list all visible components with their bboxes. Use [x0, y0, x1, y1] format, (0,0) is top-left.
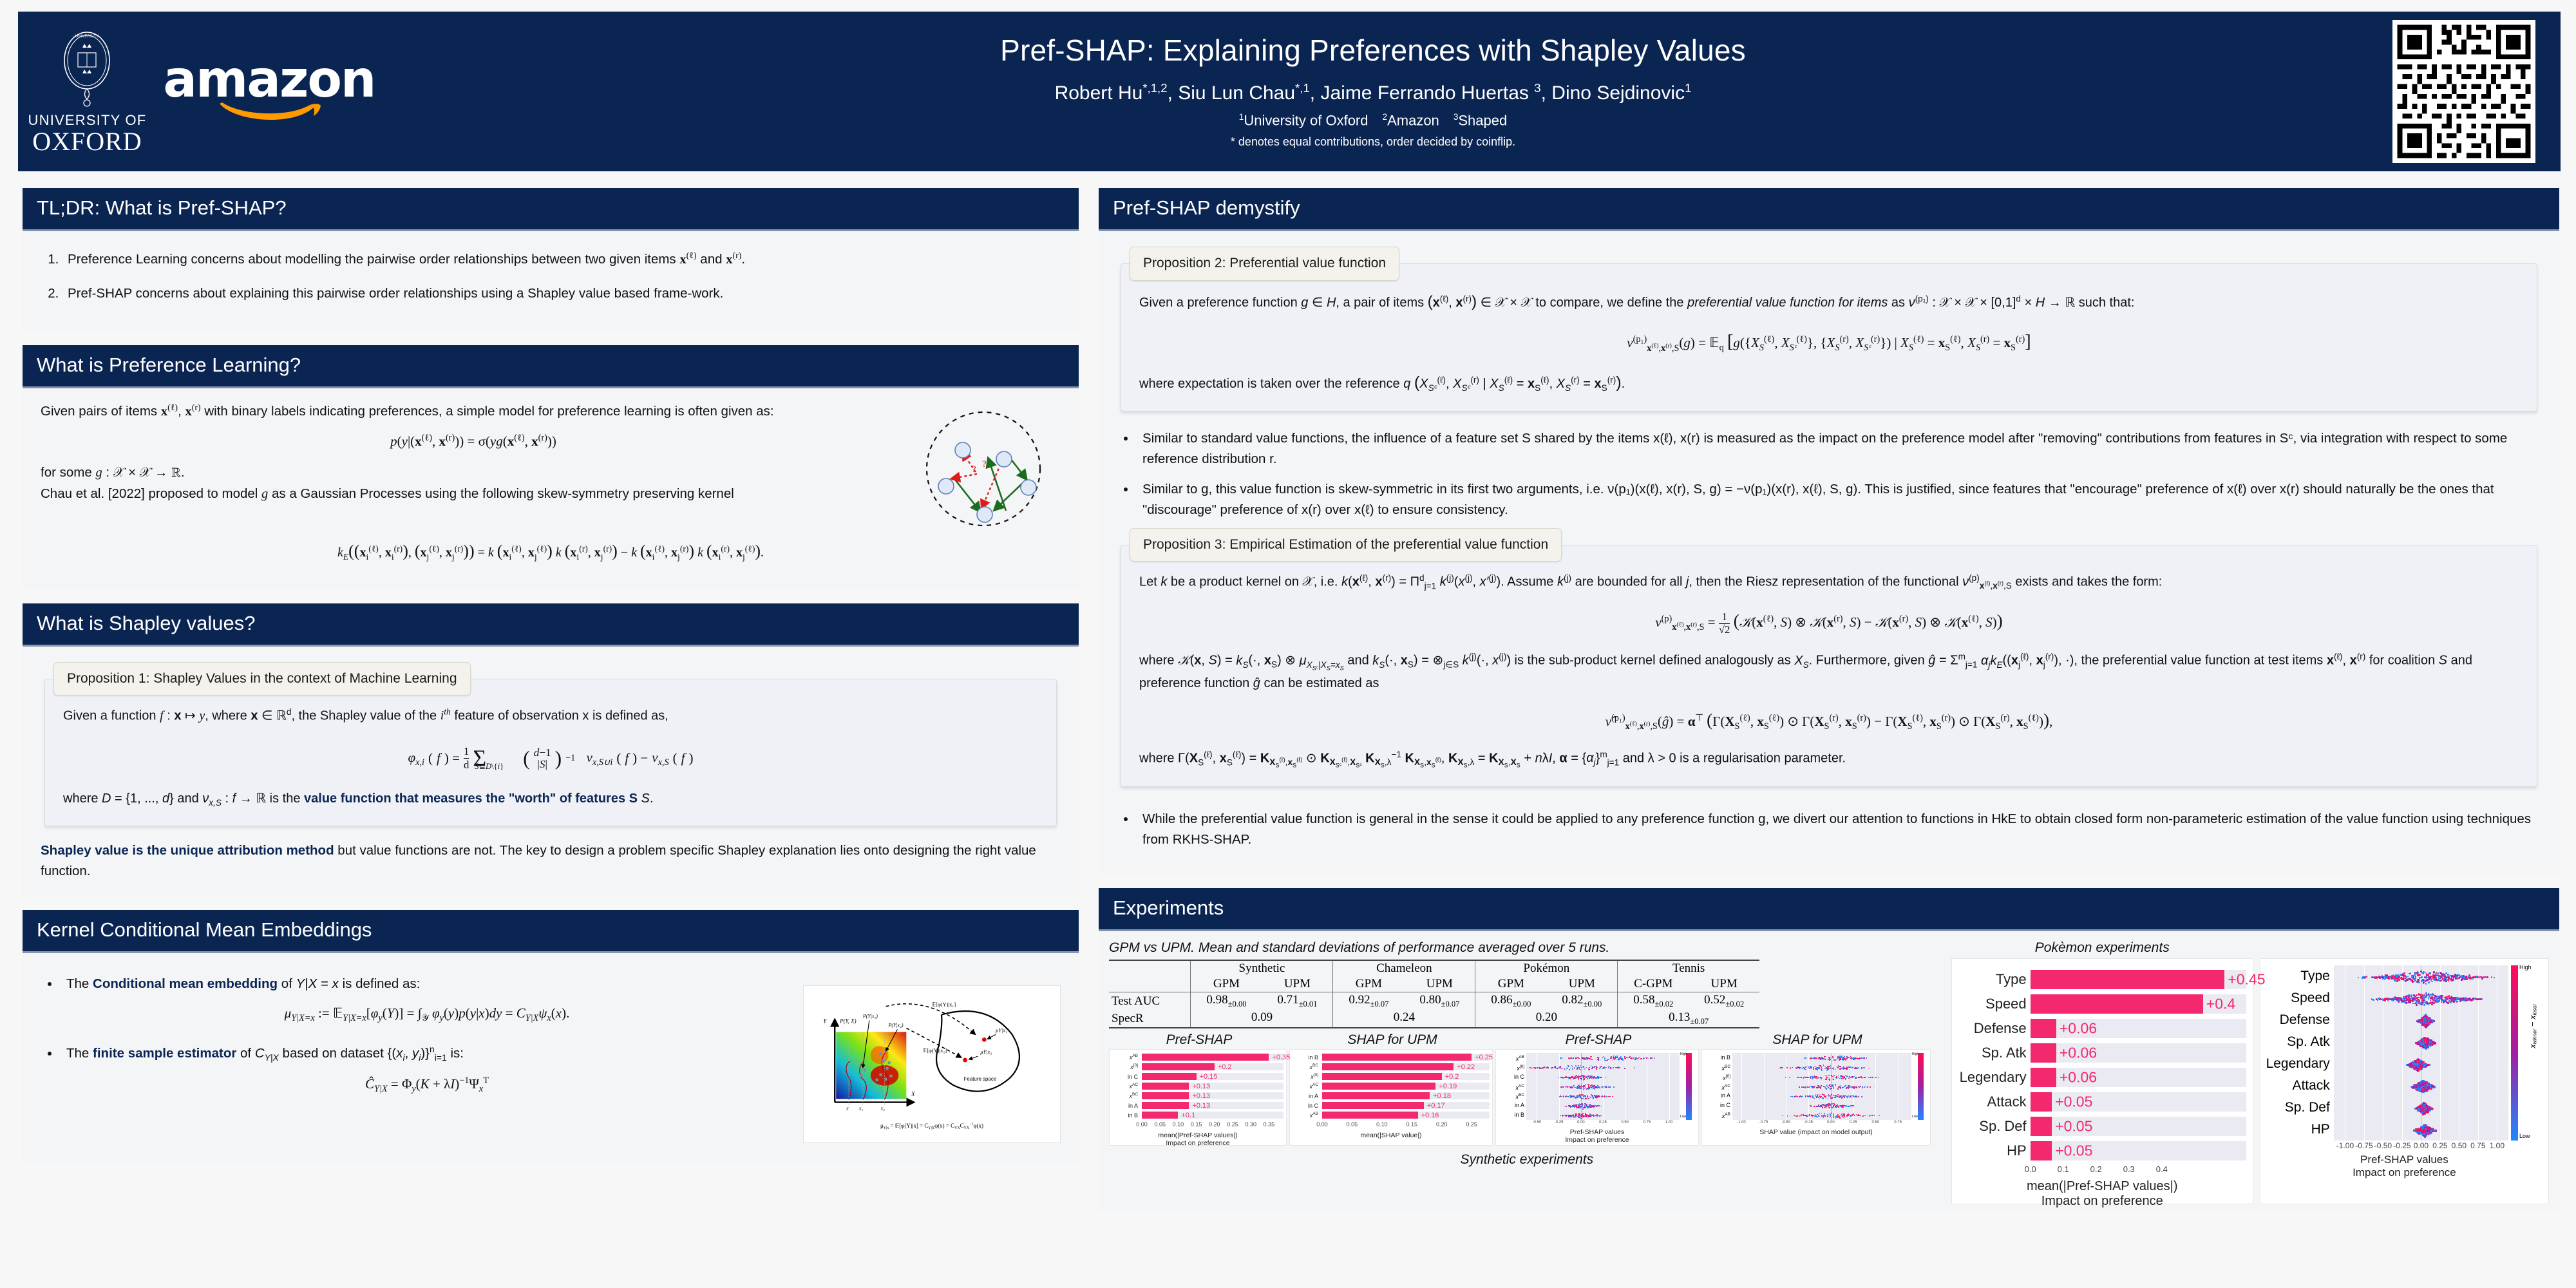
- cell: 0.52±0.02: [1689, 992, 1759, 1010]
- beeswarm-point: [1841, 1068, 1842, 1069]
- beeswarm-point: [2412, 981, 2414, 983]
- list-item: While the preferential value function is…: [1136, 809, 2541, 850]
- cell: 0.09: [1191, 1010, 1333, 1028]
- cell: 0.20: [1475, 1010, 1618, 1028]
- demystify-bullets-1: Similar to standard value functions, the…: [1136, 428, 2541, 520]
- beeswarm-point: [1602, 1097, 1603, 1098]
- beeswarm-point: [1837, 1094, 1839, 1095]
- bar-value-label: +0.15: [1197, 1073, 1218, 1081]
- qr-code-icon[interactable]: [2392, 20, 2535, 163]
- beeswarm-point: [1651, 1057, 1653, 1059]
- beeswarm-point: [2421, 1002, 2423, 1004]
- beeswarm-point: [1592, 1059, 1593, 1061]
- beeswarm-point: [1626, 1057, 1627, 1058]
- beeswarm-point: [1584, 1085, 1586, 1086]
- beeswarm-point: [1855, 1115, 1856, 1117]
- beeswarm-point: [1835, 1079, 1836, 1080]
- beeswarm-point: [1835, 1116, 1836, 1117]
- axis-label-2: Impact on preference: [1958, 1194, 2246, 1209]
- colorbar-low: Low: [1680, 1115, 1686, 1119]
- amazon-wordmark: amazon: [163, 57, 375, 102]
- beeswarm-point: [1582, 1108, 1584, 1110]
- beeswarm-point: [1585, 1058, 1586, 1059]
- bar-value-label: +0.35: [1269, 1054, 1290, 1061]
- beeswarm-point: [1868, 1068, 1870, 1069]
- table-row: GPM UPM GPM UPM GPM UPM C-GPM UPM: [1109, 976, 1759, 992]
- beeswarm-point: [1817, 1106, 1819, 1108]
- experiments-pokemon-bar-block: Pokèmon experiments Type+0.45Speed+0.4De…: [1951, 940, 2253, 1204]
- beeswarm-point: [1588, 1098, 1589, 1099]
- beeswarm-point: [1848, 1115, 1850, 1117]
- proposition-2-card: Proposition 2: Preferential value functi…: [1121, 263, 2537, 412]
- beeswarm-point: [1865, 1077, 1866, 1078]
- beeswarm-point: [1846, 1096, 1848, 1097]
- beeswarm-point: [1582, 1098, 1584, 1099]
- beeswarm-point: [1848, 1057, 1849, 1058]
- beeswarm-point: [1826, 1070, 1828, 1071]
- beeswarm-point: [1593, 1088, 1594, 1089]
- beeswarm-point: [2420, 1039, 2422, 1041]
- beeswarm-point: [1838, 1075, 1839, 1076]
- beeswarm-point: [1577, 1097, 1578, 1098]
- beeswarm-point: [1853, 1087, 1854, 1088]
- proposition-3-paragraph-1: Let k be a product kernel on 𝒳, i.e. k(x…: [1139, 571, 2519, 593]
- beeswarm-point: [1591, 1065, 1592, 1066]
- beeswarm-point: [2448, 980, 2450, 981]
- bar-row: xAC+0.19: [1293, 1082, 1490, 1090]
- beeswarm-point: [1593, 1066, 1594, 1067]
- beeswarm-point: [1817, 1095, 1818, 1097]
- beeswarm-point: [1583, 1067, 1584, 1068]
- beeswarm-point: [1635, 1059, 1636, 1060]
- axis-tick: 0.00: [1316, 1121, 1328, 1128]
- beeswarm-point: [1566, 1069, 1567, 1070]
- beeswarm-point: [1560, 1068, 1561, 1069]
- beeswarm-point: [1845, 1068, 1846, 1069]
- beeswarm-point: [1834, 1104, 1835, 1105]
- beeswarm-point: [2456, 1001, 2458, 1003]
- beeswarm-category-label: Speed: [2264, 987, 2330, 1009]
- beeswarm-point: [2450, 997, 2452, 999]
- beeswarm-point: [1839, 1105, 1841, 1106]
- beeswarm-point: [1824, 1056, 1826, 1057]
- beeswarm-point: [1841, 1107, 1842, 1108]
- bar-category-label: xAB: [1293, 1112, 1322, 1119]
- beeswarm-point: [1799, 1086, 1800, 1088]
- beeswarm-category-label: xBC: [1498, 1091, 1524, 1101]
- section-body-preference-learning: Given pairs of items x(ℓ), x(r) with bin…: [23, 388, 1079, 589]
- list-item: Preference Learning concerns about model…: [62, 249, 1061, 270]
- beeswarm-point: [2409, 1064, 2411, 1066]
- beeswarm-point: [1833, 1075, 1835, 1076]
- kcme-figure: Y X P(Y, X): [803, 966, 1061, 1150]
- beeswarm-point: [2483, 977, 2485, 979]
- beeswarm-point: [1837, 1075, 1838, 1076]
- beeswarm-category-label: Legendary: [2264, 1053, 2330, 1075]
- beeswarm-point: [1612, 1096, 1613, 1097]
- beeswarm-point: [1631, 1057, 1633, 1059]
- beeswarm-point: [2418, 997, 2420, 999]
- beeswarm-point: [2474, 976, 2476, 978]
- beeswarm-point: [1575, 1068, 1576, 1070]
- beeswarm-point: [2423, 1085, 2425, 1087]
- beeswarm-point: [1856, 1067, 1857, 1068]
- beeswarm-point: [1811, 1106, 1812, 1107]
- row-label: SpecR: [1109, 1010, 1191, 1028]
- beeswarm-point: [1578, 1079, 1580, 1081]
- beeswarm-point: [1823, 1059, 1824, 1060]
- chart-title-synthetic-prefshap-bar: Pref-SHAP: [1109, 1032, 1289, 1048]
- beeswarm-point: [1572, 1087, 1573, 1088]
- beeswarm-point: [2421, 976, 2423, 978]
- beeswarm-point: [1569, 1069, 1570, 1070]
- beeswarm-point: [1598, 1088, 1600, 1089]
- beeswarm-point: [1830, 1104, 1831, 1106]
- beeswarm-point: [1864, 1057, 1866, 1059]
- bar-value-label: +0.1: [1178, 1112, 1195, 1119]
- pref-learning-paragraph-2: for some g : 𝒳 × 𝒳 → ℝ.: [41, 462, 906, 484]
- beeswarm-point: [1786, 1067, 1788, 1068]
- beeswarm-point: [1819, 1098, 1821, 1099]
- beeswarm-point: [2477, 998, 2479, 1000]
- beeswarm-point: [1845, 1075, 1846, 1076]
- bar-category-label: Attack: [1958, 1094, 2031, 1110]
- beeswarm-point: [1782, 1115, 1783, 1117]
- beeswarm-point: [1580, 1106, 1582, 1107]
- beeswarm-point: [1841, 1117, 1842, 1118]
- beeswarm-point: [1570, 1115, 1571, 1117]
- beeswarm-point: [1588, 1068, 1589, 1070]
- beeswarm-point: [1799, 1067, 1800, 1068]
- beeswarm-point: [1868, 1077, 1870, 1078]
- beeswarm-point: [2430, 998, 2432, 999]
- beeswarm-point: [1823, 1065, 1824, 1066]
- chart-title-synthetic-prefshap-bee: Pref-SHAP: [1495, 1032, 1701, 1048]
- beeswarm-point: [1838, 1077, 1839, 1079]
- beeswarm-point: [2432, 1020, 2434, 1022]
- beeswarm-point: [2381, 976, 2383, 978]
- bar-row: x[0]+0.2: [1112, 1063, 1283, 1071]
- beeswarm-point: [1537, 1067, 1538, 1068]
- axis-label-2: Impact on preference: [1498, 1136, 1696, 1144]
- beeswarm-point: [1867, 1086, 1868, 1088]
- beeswarm-point: [1836, 1108, 1837, 1109]
- chart-synthetic-prefshap-beeswarm: xABx[0]in CxACxBCin Ain B High Low -0.50…: [1495, 1049, 1699, 1146]
- beeswarm-point: [1587, 1117, 1588, 1119]
- beeswarm-point: [1573, 1115, 1574, 1117]
- beeswarm-point: [1582, 1057, 1583, 1058]
- beeswarm-point: [1826, 1095, 1828, 1096]
- beeswarm-point: [1586, 1098, 1587, 1099]
- beeswarm-point: [1839, 1078, 1841, 1079]
- beeswarm-point: [2440, 995, 2442, 997]
- beeswarm-point: [2479, 976, 2481, 978]
- beeswarm-point: [1809, 1068, 1810, 1070]
- beeswarm-point: [2423, 982, 2425, 984]
- beeswarm-point: [1830, 1095, 1831, 1097]
- beeswarm-point: [1600, 1077, 1601, 1079]
- beeswarm-point: [1851, 1077, 1853, 1079]
- kcme-equation-1: μY|X=x := 𝔼Y|X=x[φy(Y)] = ∫𝒴 φy(y)p(y|x)…: [66, 1003, 788, 1025]
- beeswarm-point: [2389, 977, 2391, 979]
- beeswarm-point: [1566, 1106, 1567, 1107]
- beeswarm-point: [1841, 1095, 1842, 1097]
- beeswarm-point: [2450, 979, 2452, 981]
- beeswarm-point: [1539, 1068, 1540, 1069]
- beeswarm-point: [1792, 1096, 1793, 1097]
- bar-category-label: Speed: [1958, 996, 2031, 1012]
- axis-tick: -0.75: [1759, 1121, 1768, 1124]
- table-caption: GPM vs UPM. Mean and standard deviations…: [1109, 940, 1945, 956]
- beeswarm-point: [1832, 1068, 1833, 1070]
- beeswarm-point: [1644, 1058, 1645, 1059]
- oxford-crest-icon: · UNIVERSITY ·: [52, 28, 122, 109]
- beeswarm-point: [1814, 1086, 1815, 1088]
- beeswarm-point: [1825, 1104, 1826, 1106]
- beeswarm-point: [1803, 1115, 1804, 1116]
- beeswarm-point: [1591, 1095, 1592, 1096]
- beeswarm-point: [1613, 1058, 1615, 1059]
- beeswarm-category-label: xAC: [1498, 1082, 1524, 1092]
- bar-category-label: Sp. Def: [1958, 1118, 2031, 1135]
- beeswarm-point: [2422, 1023, 2424, 1025]
- beeswarm-point: [1588, 1075, 1589, 1077]
- section-demystify: Pref-SHAP demystify Proposition 2: Prefe…: [1099, 188, 2559, 874]
- beeswarm-point: [1837, 1066, 1838, 1068]
- beeswarm-point: [2445, 976, 2447, 978]
- beeswarm-point: [1589, 1088, 1590, 1089]
- beeswarm-point: [1624, 1068, 1625, 1069]
- proposition-2-equation: ν(p₁)x(ℓ),x(r),S(g) = 𝔼q [g({XS(ℓ), XSᶜ(…: [1139, 327, 2519, 356]
- beeswarm-point: [1837, 1114, 1839, 1115]
- beeswarm-point: [1575, 1115, 1577, 1116]
- beeswarm-point: [1605, 1077, 1606, 1078]
- cell: 0.24: [1333, 1010, 1475, 1028]
- beeswarm-point: [2445, 981, 2447, 983]
- bar-category-label: in A: [1293, 1093, 1322, 1099]
- axis-label: Pref-SHAP values: [1498, 1128, 1696, 1136]
- beeswarm-point: [1560, 1066, 1561, 1067]
- beeswarm-category-label: Sp. Def: [2264, 1097, 2330, 1119]
- axis-tick: -0.25: [1555, 1121, 1564, 1124]
- axis-tick: 0.00: [1827, 1121, 1835, 1124]
- beeswarm-point: [1841, 1097, 1842, 1099]
- beeswarm-point: [1578, 1106, 1579, 1108]
- pref-learning-paragraph-1: Given pairs of items x(ℓ), x(r) with bin…: [41, 401, 906, 422]
- beeswarm-category-label: xAB: [1704, 1110, 1730, 1120]
- sub-header: C-GPM: [1618, 976, 1689, 992]
- beeswarm-point: [1543, 1067, 1544, 1068]
- beeswarm-point: [1801, 1077, 1802, 1078]
- table-row: SpecR 0.09 0.24 0.20 0.13±0.07: [1109, 1010, 1759, 1028]
- beeswarm-point: [1831, 1088, 1832, 1089]
- beeswarm-point: [2421, 1068, 2423, 1070]
- equal-contribution-note: * denotes equal contributions, order dec…: [392, 135, 2354, 149]
- beeswarm-point: [1861, 1096, 1862, 1097]
- beeswarm-point: [1842, 1096, 1844, 1097]
- beeswarm-point: [1862, 1058, 1863, 1059]
- beeswarm-point: [1600, 1059, 1601, 1060]
- beeswarm-point: [1568, 1057, 1569, 1059]
- beeswarm-point: [1859, 1058, 1861, 1059]
- beeswarm-point: [2491, 976, 2493, 978]
- beeswarm-point: [1634, 1057, 1635, 1059]
- beeswarm-point: [1833, 1076, 1834, 1077]
- beeswarm-point: [1808, 1087, 1809, 1088]
- beeswarm-point: [1846, 1058, 1848, 1059]
- beeswarm-point: [1615, 1058, 1616, 1059]
- beeswarm-point: [1819, 1057, 1820, 1058]
- beeswarm-point: [1836, 1059, 1837, 1061]
- beeswarm-point: [1835, 1068, 1836, 1070]
- beeswarm-point: [1794, 1115, 1795, 1116]
- beeswarm-point: [2397, 974, 2399, 976]
- axis-tick: 0.2: [2090, 1164, 2102, 1174]
- beeswarm-point: [1578, 1057, 1579, 1059]
- beeswarm-point: [1546, 1068, 1547, 1070]
- beeswarm-point: [1557, 1068, 1558, 1069]
- beeswarm-point: [1864, 1115, 1866, 1117]
- beeswarm-point: [1584, 1079, 1586, 1081]
- pref-learning-paragraph-3: Chau et al. [2022] proposed to model g a…: [41, 484, 906, 505]
- beeswarm-point: [1826, 1099, 1827, 1100]
- beeswarm-point: [1833, 1095, 1834, 1096]
- beeswarm-point: [1830, 1086, 1832, 1087]
- beeswarm-point: [1803, 1087, 1804, 1088]
- beeswarm-point: [1829, 1057, 1830, 1058]
- beeswarm-point: [1608, 1059, 1609, 1061]
- cell: 0.71±0.01: [1262, 992, 1332, 1010]
- beeswarm-point: [1837, 1088, 1839, 1090]
- beeswarm-point: [2420, 1059, 2421, 1061]
- beeswarm-point: [1796, 1068, 1797, 1069]
- beeswarm-point: [1805, 1066, 1806, 1068]
- bar-category-label: xBC: [1112, 1092, 1142, 1099]
- beeswarm-point: [1858, 1096, 1859, 1097]
- beeswarm-point: [1832, 1057, 1833, 1058]
- bar-row: in A+0.18: [1293, 1092, 1490, 1100]
- section-body-experiments: GPM vs UPM. Mean and standard deviations…: [1099, 931, 2559, 1211]
- beeswarm-point: [2415, 976, 2417, 978]
- beeswarm-point: [1598, 1057, 1599, 1058]
- beeswarm-point: [2418, 982, 2420, 984]
- beeswarm-point: [1797, 1077, 1799, 1078]
- beeswarm-point: [1807, 1115, 1808, 1117]
- sub-header: GPM: [1191, 976, 1262, 992]
- beeswarm-point: [1564, 1086, 1565, 1087]
- section-heading-preference-learning: What is Preference Learning?: [23, 345, 1079, 388]
- beeswarm-point: [1828, 1087, 1829, 1088]
- chart-synthetic-prefshap-bar: xAB+0.35x[0]+0.2in C+0.15xAC+0.13xBC+0.1…: [1109, 1049, 1287, 1146]
- beeswarm-point: [1833, 1067, 1835, 1068]
- beeswarm-point: [1589, 1058, 1590, 1059]
- beeswarm-point: [2437, 972, 2439, 974]
- beeswarm-point: [1832, 1112, 1833, 1113]
- beeswarm-point: [1845, 1079, 1846, 1080]
- beeswarm-point: [1580, 1117, 1581, 1119]
- group-header: Synthetic: [1191, 960, 1333, 976]
- bar-value-label: +0.05: [2052, 1118, 2092, 1135]
- proposition-3-equation-2: ν̂(p₁)x(ℓ),x(r),S(ĝ) = α⊤ (Γ(XS(ℓ), xS(ℓ…: [1139, 706, 2519, 735]
- bar-value-label: +0.19: [1435, 1083, 1457, 1090]
- beeswarm-point: [1576, 1107, 1577, 1108]
- beeswarm-point: [2423, 971, 2425, 973]
- beeswarm-point: [1591, 1097, 1593, 1098]
- beeswarm-point: [1803, 1077, 1804, 1079]
- beeswarm-point: [1562, 1115, 1563, 1117]
- beeswarm-point: [1850, 1087, 1851, 1088]
- beeswarm-point: [1870, 1086, 1871, 1088]
- preference-graph-icon: ? ?: [913, 408, 1054, 530]
- beeswarm-point: [1585, 1114, 1586, 1115]
- bar-row: Speed+0.4: [1958, 992, 2246, 1016]
- section-heading-demystify: Pref-SHAP demystify: [1099, 188, 2559, 231]
- beeswarm-point: [1599, 1068, 1600, 1069]
- beeswarm-point: [1827, 1104, 1828, 1105]
- beeswarm-point: [2427, 977, 2429, 979]
- axis-tick: 0.20: [1436, 1121, 1448, 1128]
- beeswarm-point: [2412, 1003, 2414, 1005]
- beeswarm-point: [2432, 1085, 2434, 1087]
- pokemon-caption: Pokèmon experiments: [1951, 940, 2253, 956]
- poster-root: · UNIVERSITY · UNIVERSITY OF OXFORD amaz…: [0, 0, 2576, 1288]
- chart-pokemon-bar: Type+0.45Speed+0.4Defense+0.06Sp. Atk+0.…: [1951, 958, 2253, 1204]
- beeswarm-point: [1827, 1105, 1828, 1106]
- beeswarm-point: [2441, 995, 2443, 997]
- bar-row: Sp. Atk+0.06: [1958, 1041, 2246, 1065]
- beeswarm-point: [1843, 1059, 1844, 1060]
- beeswarm-point: [2479, 998, 2481, 1000]
- beeswarm-point: [1818, 1115, 1819, 1116]
- axis-label: mean(|Pref-SHAP values|): [1958, 1179, 2246, 1194]
- beeswarm-point: [1841, 1057, 1842, 1058]
- axis-tick: 0.75: [1643, 1121, 1651, 1124]
- beeswarm-point: [2432, 999, 2434, 1001]
- proposition-1-title: Proposition 1: Shapley Values in the con…: [53, 662, 471, 696]
- beeswarm-point: [1835, 1085, 1837, 1086]
- proposition-3-equation-1: ν(p)x(ℓ),x(r),S = 1√2 (𝒦(x(ℓ), S) ⊗ 𝒦(x(…: [1139, 607, 2519, 636]
- beeswarm-point: [1814, 1077, 1815, 1079]
- beeswarm-point: [1843, 1068, 1844, 1070]
- bar-category-label: HP: [1958, 1142, 2031, 1159]
- beeswarm-point: [1829, 1117, 1830, 1118]
- bar-row: in B+0.1: [1112, 1111, 1283, 1119]
- axis-tick: 1.00: [1665, 1121, 1673, 1124]
- bar-category-label: xAB: [1112, 1054, 1142, 1061]
- beeswarm-point: [2470, 978, 2472, 980]
- beeswarm-point: [2422, 1045, 2424, 1047]
- axis-tick: 0.10: [1376, 1121, 1388, 1128]
- beeswarm-point: [1629, 1056, 1631, 1057]
- beeswarm-category-label: Sp. Atk: [2264, 1031, 2330, 1053]
- beeswarm-point: [1581, 1067, 1582, 1068]
- beeswarm-point: [2466, 976, 2468, 978]
- beeswarm-point: [1844, 1078, 1845, 1079]
- beeswarm-point: [1817, 1069, 1818, 1070]
- bar-category-label: Sp. Atk: [1958, 1045, 2031, 1061]
- beeswarm-point: [1564, 1106, 1566, 1107]
- beeswarm-point: [1822, 1107, 1823, 1108]
- beeswarm-point: [1813, 1058, 1814, 1059]
- beeswarm-point: [1598, 1059, 1599, 1061]
- sub-header: GPM: [1333, 976, 1404, 992]
- beeswarm-point: [2379, 978, 2381, 980]
- proposition-2-title: Proposition 2: Preferential value functi…: [1130, 247, 1399, 281]
- beeswarm-category-label: in B: [1498, 1110, 1524, 1120]
- value-function-highlight: value function that measures the "worth"…: [304, 791, 638, 806]
- beeswarm-point: [1826, 1107, 1827, 1108]
- beeswarm-point: [1578, 1065, 1579, 1066]
